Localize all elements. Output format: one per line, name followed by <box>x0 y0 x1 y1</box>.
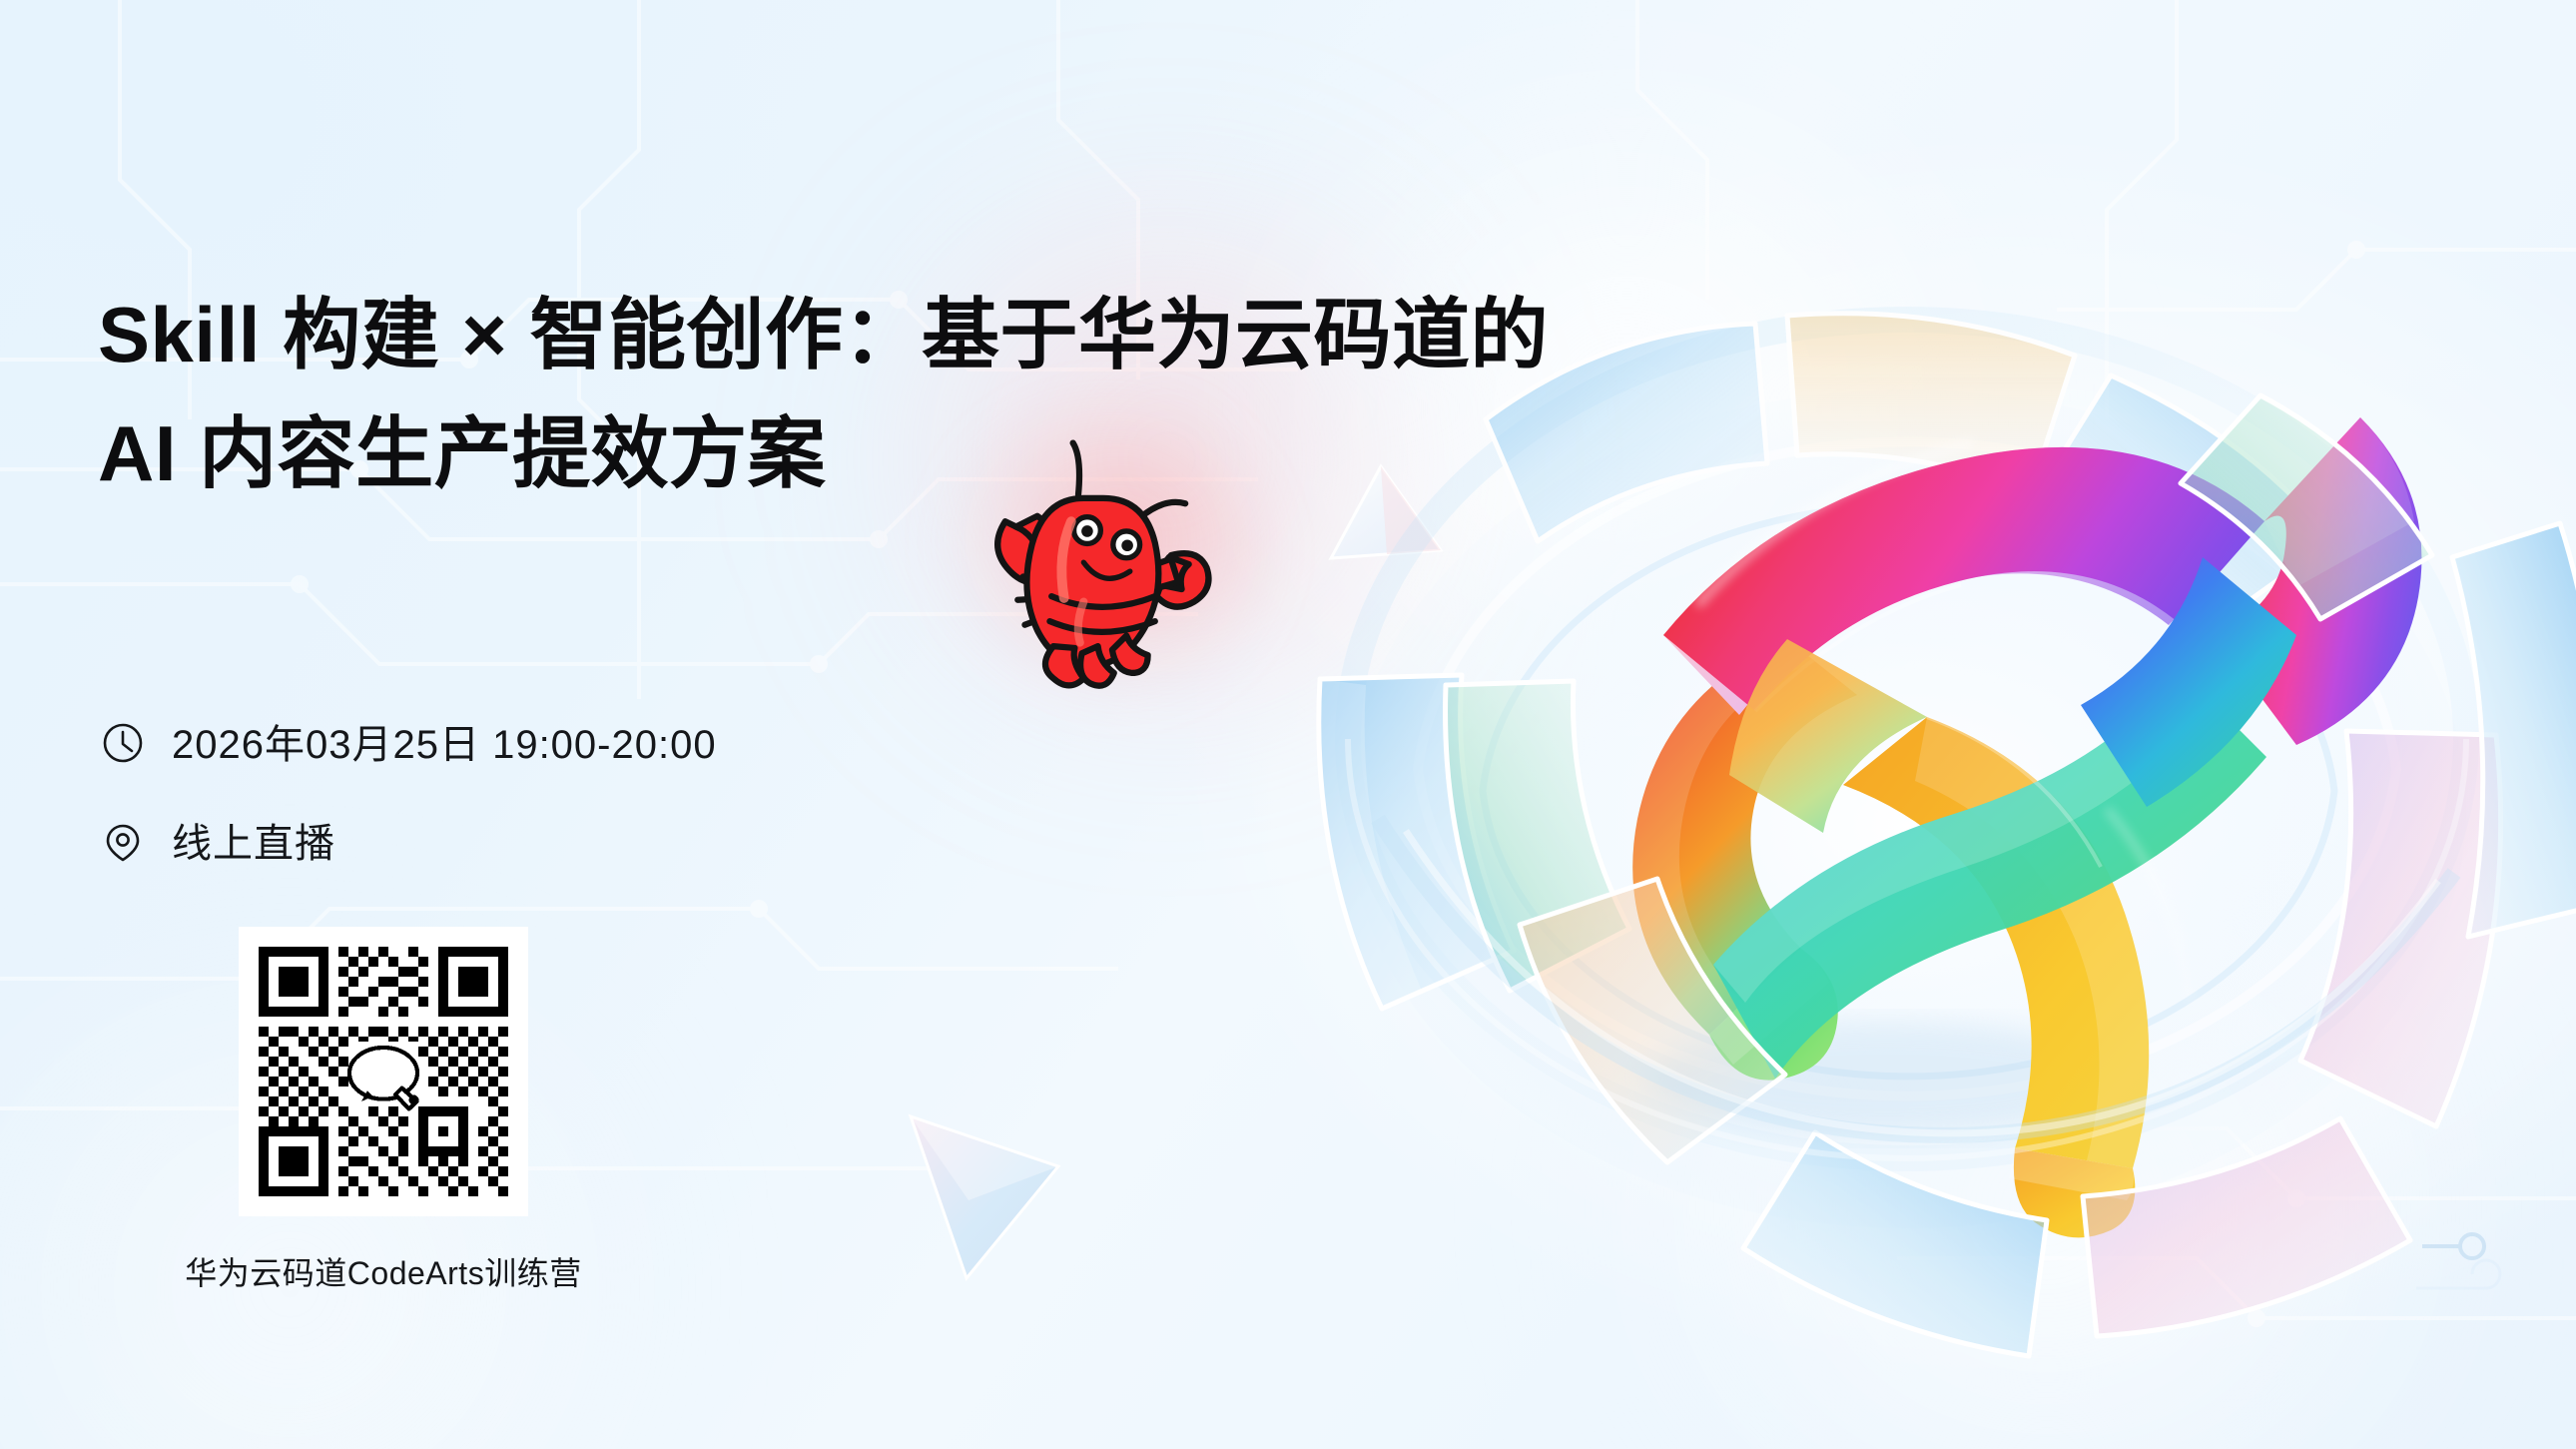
lobster-sticker <box>973 439 1233 689</box>
qr-block: 华为云码道CodeArts训练营 <box>239 927 528 1216</box>
event-time-row: 2026年03月25日 19:00-20:00 <box>100 712 717 773</box>
event-banner: Skill 构建 × 智能创作：基于华为云码道的 AI 内容生产提效方案 202… <box>0 0 2576 1449</box>
clock-icon <box>100 720 146 766</box>
qr-caption: 华为云码道CodeArts训练营 <box>149 1248 618 1294</box>
event-title-line1: Skill 构建 × 智能创作：基于华为云码道的 <box>98 278 1995 392</box>
location-pin-icon <box>100 819 146 865</box>
banner-content: Skill 构建 × 智能创作：基于华为云码道的 AI 内容生产提效方案 202… <box>0 0 1248 1449</box>
white-light-wash-bottom <box>1498 899 2576 1449</box>
event-location-text: 线上直播 <box>172 811 335 872</box>
wechat-speech-bubble-icon <box>348 1042 419 1109</box>
event-time-text: 2026年03月25日 19:00-20:00 <box>172 712 717 773</box>
qr-code[interactable] <box>239 927 528 1216</box>
event-location-row: 线上直播 <box>100 811 335 872</box>
